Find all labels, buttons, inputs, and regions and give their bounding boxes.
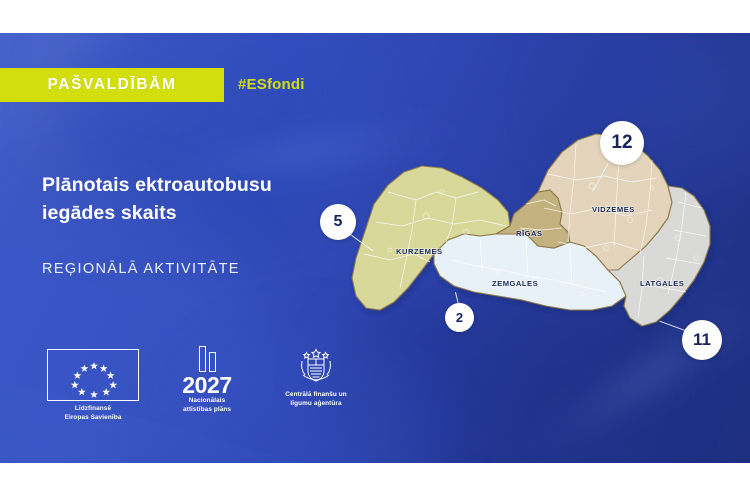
callout-badge-vidzeme[interactable]: 12 (600, 121, 644, 165)
hashtag-label: #ESfondi (238, 76, 305, 93)
nap-bar (199, 346, 206, 372)
nap-caption: Nacionālais attīstības plāns (161, 397, 253, 415)
funding-logo-strip: Līdzfinansē Eiropas Savienība 2027 Nacio… (38, 349, 358, 429)
nap-bar (209, 352, 216, 372)
nap-year-label: 2027 (161, 373, 253, 397)
cfla-caption: Centrālā finanšu un līgumu aģentūra (260, 391, 372, 409)
callout-badge-kurzeme[interactable]: 5 (320, 204, 356, 240)
latvia-coat-of-arms-icon (299, 347, 333, 387)
eu-stars-icon (48, 350, 140, 402)
eu-emblem-logo: Līdzfinansē Eiropas Savienība (38, 349, 148, 423)
page-subtitle: REĢIONĀLĀ AKTIVITĀTE (42, 261, 240, 277)
map-label-riga: RĪGAS (516, 229, 543, 238)
audience-tag: PAŠVALDĪBĀM (0, 68, 224, 102)
latvia-region-map: KURZEMES RĪGAS ZEMGALES VIDZEMES LATGALE… (330, 130, 740, 355)
nap-bars-icon (161, 345, 253, 372)
map-label-vidzeme: VIDZEMES (592, 205, 635, 214)
callout-badge-latgale[interactable]: 11 (682, 320, 722, 360)
map-label-kurzeme: KURZEMES (396, 247, 443, 256)
poster-canvas: PAŠVALDĪBĀM #ESfondi Plānotais ektroauto… (0, 0, 750, 500)
map-label-latgale: LATGALES (640, 279, 684, 288)
page-title: Plānotais ektroautobusu iegādes skaits (42, 172, 342, 227)
latvia-map-svg: KURZEMES RĪGAS ZEMGALES VIDZEMES LATGALE… (330, 130, 740, 355)
eu-flag-icon (47, 349, 139, 401)
cfla-logo: Centrālā finanšu un līgumu aģentūra (260, 347, 372, 409)
eu-emblem-caption: Līdzfinansē Eiropas Savienība (38, 405, 148, 423)
audience-tag-label: PAŠVALDĪBĀM (48, 76, 177, 94)
nap-2027-logo: 2027 Nacionālais attīstības plāns (161, 345, 253, 415)
map-label-zemgale: ZEMGALES (492, 279, 538, 288)
callout-badge-zemgale[interactable]: 2 (445, 303, 474, 332)
